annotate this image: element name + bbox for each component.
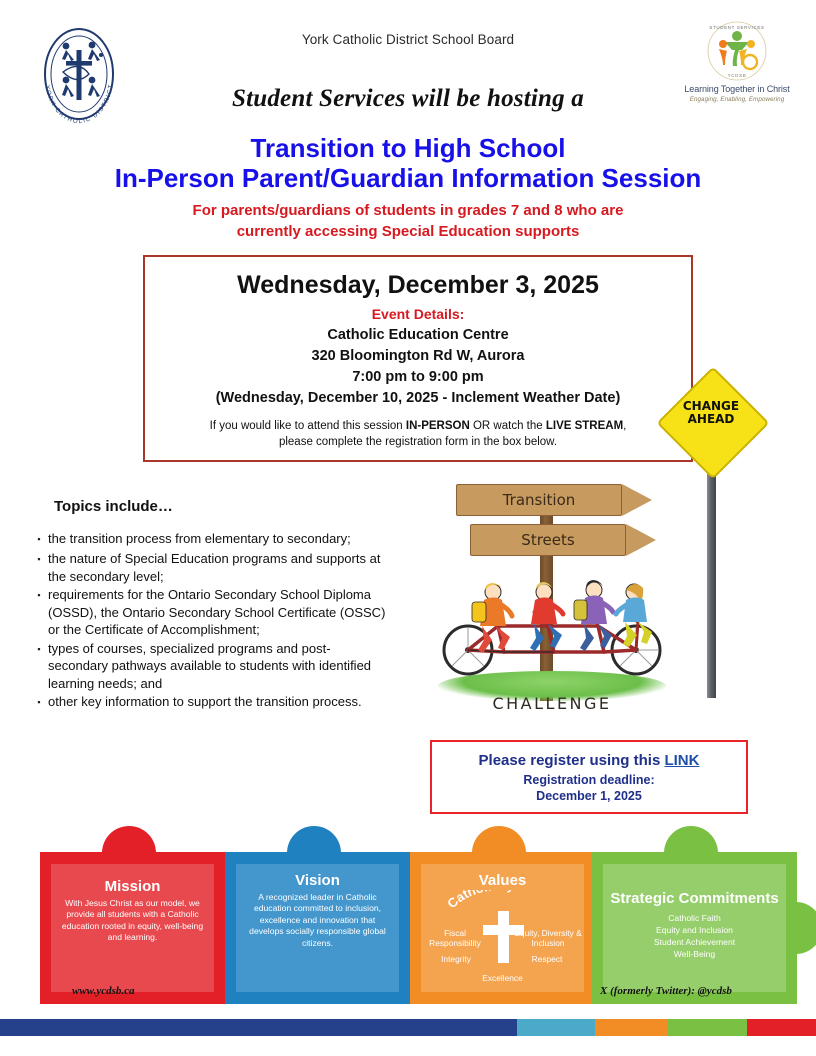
event-details-label: Event Details: <box>145 306 691 322</box>
puzzle-piece-mission: Mission With Jesus Christ as our model, … <box>40 852 225 1004</box>
color-segment-red <box>747 1019 816 1036</box>
title-line-2: In-Person Parent/Guardian Information Se… <box>0 163 816 193</box>
event-details-box: Wednesday, December 3, 2025 Event Detail… <box>143 255 693 462</box>
list-item-text: other key information to support the tra… <box>48 693 390 712</box>
registration-box[interactable]: Please register using this LINK Registra… <box>430 740 748 814</box>
puzzle-body: Catholic Faith Equity and Inclusion Stud… <box>603 907 786 960</box>
deadline-label: Registration deadline: <box>432 772 746 788</box>
puzzle-inner: Vision A recognized leader in Catholic e… <box>236 864 399 992</box>
register-line: Please register using this LINK <box>432 752 746 769</box>
list-item: ▪ requirements for the Ontario Secondary… <box>30 586 390 639</box>
footer-social-handle[interactable]: X (formerly Twitter): @ycdsb <box>600 985 732 997</box>
note-inperson: IN-PERSON <box>406 420 470 432</box>
rider-2 <box>530 582 563 651</box>
event-registration-note: If you would like to attend this session… <box>145 418 691 450</box>
note-mid: OR watch the <box>470 420 546 432</box>
note-pre: If you would like to attend this session <box>210 420 406 432</box>
list-item-text: types of courses, specialized programs a… <box>48 640 390 693</box>
list-item: ▪ the transition process from elementary… <box>30 530 390 549</box>
list-item-text: requirements for the Ontario Secondary S… <box>48 586 390 639</box>
puzzle-title: Values <box>421 864 584 889</box>
svg-text:YCDSB: YCDSB <box>728 73 747 78</box>
svg-text:STUDENT SERVICES: STUDENT SERVICES <box>709 25 764 30</box>
transition-streets-illustration: Transition Streets <box>432 466 672 718</box>
value-item: Fiscal Responsibility <box>423 928 487 948</box>
puzzle-body: With Jesus Christ as our model, we provi… <box>51 895 214 944</box>
road-sign-text: CHANGE AHEAD <box>668 400 754 426</box>
topics-heading: Topics include… <box>54 498 173 515</box>
color-segment-green <box>668 1019 747 1036</box>
note-livestream: LIVE STREAM <box>546 420 623 432</box>
puzzle-inner: Mission With Jesus Christ as our model, … <box>51 864 214 992</box>
challenge-caption: CHALLENGE <box>432 694 672 713</box>
color-segment-orange <box>595 1019 668 1036</box>
value-item: Integrity <box>427 954 485 964</box>
puzzle-body: A recognized leader in Catholic educatio… <box>236 889 399 949</box>
registration-link[interactable]: LINK <box>664 752 699 769</box>
puzzle-piece-vision: Vision A recognized leader in Catholic e… <box>225 852 410 1004</box>
puzzle-title: Mission <box>51 864 214 895</box>
rider-4 <box>616 584 652 647</box>
event-date: Wednesday, December 3, 2025 <box>145 271 691 300</box>
event-address: 320 Bloomington Rd W, Aurora <box>145 348 691 364</box>
bullet-icon: ▪ <box>30 693 48 712</box>
event-time: 7:00 pm to 9:00 pm <box>145 369 691 385</box>
puzzle-inner: Values Catholicity Fiscal Responsibility… <box>421 864 584 992</box>
road-sign-line-2: AHEAD <box>668 413 754 426</box>
puzzle-piece-values: Values Catholicity Fiscal Responsibility… <box>410 852 595 1004</box>
list-item: ▪ the nature of Special Education progra… <box>30 550 390 585</box>
sign-streets: Streets <box>470 524 656 556</box>
footer-color-bar <box>0 1019 816 1036</box>
rider-3 <box>574 580 613 651</box>
bullet-icon: ▪ <box>30 640 48 693</box>
list-item: ▪ types of courses, specialized programs… <box>30 640 390 693</box>
register-text: Please register using this <box>479 752 665 769</box>
event-venue: Catholic Education Centre <box>145 327 691 343</box>
list-item-text: the transition process from elementary t… <box>48 530 390 549</box>
list-item: ▪ other key information to support the t… <box>30 693 390 712</box>
change-ahead-road-sign: CHANGE AHEAD <box>668 378 754 698</box>
sign-pole <box>707 464 716 698</box>
subtitle-line-1: For parents/guardians of students in gra… <box>0 200 816 221</box>
value-item: Excellence <box>421 973 584 983</box>
deadline-block: Registration deadline: December 1, 2025 <box>432 772 746 804</box>
page-subtitle: For parents/guardians of students in gra… <box>0 200 816 242</box>
subtitle-line-2: currently accessing Special Education su… <box>0 221 816 242</box>
tandem-bicycle-illustration <box>438 578 666 678</box>
value-item: Equity, Diversity & Inclusion <box>514 928 582 948</box>
footer-website[interactable]: www.ycdsb.ca <box>72 985 135 997</box>
page-title: Transition to High School In-Person Pare… <box>0 133 816 193</box>
list-item-text: the nature of Special Education programs… <box>48 550 390 585</box>
svg-text:Catholicity: Catholicity <box>444 890 516 911</box>
puzzle-title: Vision <box>236 864 399 889</box>
flyer-page: York Catholic District School Board YORK… <box>0 0 816 1056</box>
hosting-line: Student Services will be hosting a <box>0 85 816 113</box>
puzzle-title: Strategic Commitments <box>603 864 786 907</box>
topics-list: ▪ the transition process from elementary… <box>30 530 390 713</box>
puzzle-piece-strategic-commitments: Strategic Commitments Catholic Faith Equ… <box>592 852 797 1004</box>
title-line-1: Transition to High School <box>0 133 816 163</box>
note-post: , <box>623 420 626 432</box>
event-alt-date: (Wednesday, December 10, 2025 - Inclemen… <box>145 390 691 406</box>
bullet-icon: ▪ <box>30 550 48 585</box>
color-segment-teal <box>517 1019 595 1036</box>
deadline-date: December 1, 2025 <box>432 788 746 804</box>
color-segment-navy <box>0 1019 517 1036</box>
value-item: Respect <box>518 954 576 964</box>
sign-transition: Transition <box>456 484 652 516</box>
note-line-2: please complete the registration form in… <box>145 434 691 450</box>
bullet-icon: ▪ <box>30 530 48 549</box>
puzzle-inner: Strategic Commitments Catholic Faith Equ… <box>603 864 786 992</box>
sign-streets-label: Streets <box>470 524 626 556</box>
bullet-icon: ▪ <box>30 586 48 639</box>
sign-transition-label: Transition <box>456 484 622 516</box>
